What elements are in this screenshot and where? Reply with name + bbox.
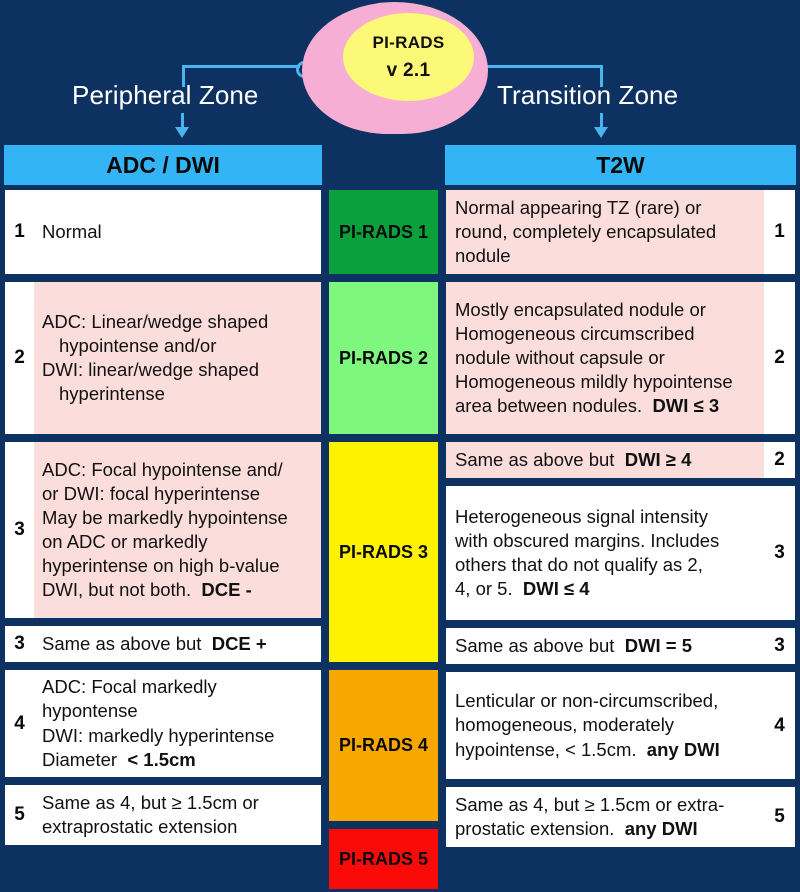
cell-line-text: DWI: markedly hyperintense — [42, 725, 274, 746]
cell-line: prostatic extension. any DWI — [455, 817, 758, 841]
cell-line: homogeneous, moderately — [455, 713, 758, 737]
pirads-score-cell[interactable]: PI-RADS 3 — [326, 439, 441, 665]
cell-line-text: DWI: linear/wedge shaped — [42, 359, 259, 380]
tz-row-text: Normal appearing TZ (rare) orround, comp… — [446, 190, 764, 274]
cell-line-text: nodule — [455, 245, 511, 266]
cell-line: 4, or 5. DWI ≤ 4 — [455, 577, 758, 601]
tz-row-score: 3 — [764, 486, 795, 620]
cell-line: Normal — [42, 220, 314, 244]
pz-row-text: ADC: Linear/wedge shapedhypointense and/… — [34, 282, 321, 434]
cell-line-emphasis: DWI = 5 — [625, 635, 692, 656]
cell-line-emphasis: DWI ≥ 4 — [625, 449, 692, 470]
cell-line-text: on ADC or markedly — [42, 531, 208, 552]
cell-line: Lenticular or non-circumscribed, — [455, 689, 758, 713]
pirads-score-cell[interactable]: PI-RADS 4 — [326, 667, 441, 824]
cell-line-text: extraprostatic extension — [42, 816, 237, 837]
cell-line: round, completely encapsulated — [455, 220, 758, 244]
left-connector-horizontal — [182, 65, 300, 68]
pz-row-text: Normal — [34, 190, 321, 274]
cell-line: Normal appearing TZ (rare) or — [455, 196, 758, 220]
pz-row-text: Same as 4, but ≥ 1.5cm orextraprostatic … — [34, 785, 321, 845]
tz-row-text: Mostly encapsulated nodule orHomogeneous… — [446, 282, 764, 434]
cell-line-text: with obscured margins. Includes — [455, 530, 719, 551]
pirads-score-column: PI-RADS 1PI-RADS 2PI-RADS 3PI-RADS 4PI-R… — [326, 187, 441, 852]
cell-line: others that do not qualify as 2, — [455, 553, 758, 577]
pirads-score-label: PI-RADS 1 — [339, 222, 428, 243]
cell-line-text: 4, or 5. — [455, 578, 513, 599]
cell-line: ADC: Linear/wedge shaped — [42, 310, 314, 334]
cell-line-text: hyperintense on high b-value — [42, 555, 280, 576]
cell-line-text: Normal — [42, 221, 102, 242]
cell-line-text: hyperintense — [59, 383, 165, 404]
left-arrow-head — [175, 127, 189, 138]
tz-row-score: 5 — [764, 787, 795, 847]
cell-line: nodule — [455, 244, 758, 268]
pirads-logo-inner: PI-RADS v 2.1 — [343, 13, 474, 101]
cell-line-text: Same as above but — [42, 633, 201, 654]
cell-line-emphasis: DWI ≤ 4 — [523, 578, 590, 599]
tz-row-score: 3 — [764, 628, 795, 664]
tz-row-text: Same as above but DWI ≥ 4 — [446, 442, 764, 478]
column-header-adc-dwi: ADC / DWI — [2, 143, 324, 187]
cell-line-emphasis: < 1.5cm — [127, 749, 195, 770]
cell-line-text: prostatic extension. — [455, 818, 614, 839]
cell-line: hypointense and/or — [42, 334, 314, 358]
cell-line: ADC: Focal markedly — [42, 675, 314, 699]
cell-line: Same as 4, but ≥ 1.5cm or — [42, 791, 314, 815]
cell-line: ADC: Focal hypointense and/ — [42, 458, 314, 482]
cell-line-emphasis: DCE + — [212, 633, 267, 654]
pirads-score-label: PI-RADS 4 — [339, 735, 428, 756]
pz-row[interactable]: 4ADC: Focal markedlyhypontenseDWI: marke… — [2, 667, 324, 780]
tz-row[interactable]: Same as 4, but ≥ 1.5cm or extra-prostati… — [443, 784, 798, 850]
cell-line: DWI, but not both. DCE - — [42, 578, 314, 602]
pirads-table: ADC / DWI T2W 1Normal2ADC: Linear/wedge … — [0, 143, 800, 852]
cell-line-text: hypontense — [42, 700, 138, 721]
tz-row-text: Same as 4, but ≥ 1.5cm or extra-prostati… — [446, 787, 764, 847]
cell-line: May be markedly hypointense — [42, 506, 314, 530]
pirads-score-cell[interactable]: PI-RADS 1 — [326, 187, 441, 277]
cell-line-text: Heterogeneous signal intensity — [455, 506, 708, 527]
cell-line: Homogeneous mildly hypointense — [455, 370, 758, 394]
cell-line: Same as above but DWI ≥ 4 — [455, 448, 758, 472]
pirads-logo-oval: PI-RADS v 2.1 — [302, 2, 488, 134]
cell-line-text: Mostly encapsulated nodule or — [455, 299, 706, 320]
pirads-chart: Peripheral Zone Transition Zone PI-RADS … — [0, 0, 800, 852]
tz-row[interactable]: Lenticular or non-circumscribed,homogene… — [443, 669, 798, 782]
cell-line: or DWI: focal hyperintense — [42, 482, 314, 506]
pz-row-text: Same as above but DCE + — [34, 626, 321, 662]
cell-line-text: round, completely encapsulated — [455, 221, 716, 242]
cell-line-text: Diameter — [42, 749, 117, 770]
transition-zone-label: Transition Zone — [497, 80, 678, 111]
cell-line-text: ADC: Focal markedly — [42, 676, 217, 697]
pz-row-score: 2 — [5, 282, 34, 434]
cell-line-text: or DWI: focal hyperintense — [42, 483, 260, 504]
cell-line: Same as above but DWI = 5 — [455, 634, 758, 658]
pz-row[interactable]: 3ADC: Focal hypointense and/or DWI: foca… — [2, 439, 324, 621]
cell-line-text: Homogeneous circumscribed — [455, 323, 695, 344]
cell-line-text: May be markedly hypointense — [42, 507, 288, 528]
pirads-score-label: PI-RADS 3 — [339, 542, 428, 563]
cell-line: hypontense — [42, 699, 314, 723]
cell-line-text: Same as above but — [455, 449, 614, 470]
pirads-score-cell[interactable]: PI-RADS 5 — [326, 826, 441, 892]
tz-row-score: 4 — [764, 672, 795, 779]
cell-line-emphasis: any DWI — [647, 739, 720, 760]
tz-row[interactable]: Heterogeneous signal intensitywith obscu… — [443, 483, 798, 623]
pz-row-text: ADC: Focal markedlyhypontenseDWI: marked… — [34, 670, 321, 777]
tz-row-score: 1 — [764, 190, 795, 274]
cell-line: Mostly encapsulated nodule or — [455, 298, 758, 322]
pz-row-score: 5 — [5, 785, 34, 845]
pz-row-score: 3 — [5, 442, 34, 618]
cell-line-text: homogeneous, moderately — [455, 714, 674, 735]
pz-row-score: 3 — [5, 626, 34, 662]
cell-line-text: DWI, but not both. — [42, 579, 191, 600]
pz-row[interactable]: 3Same as above but DCE + — [2, 623, 324, 665]
column-header-t2w: T2W — [443, 143, 798, 187]
logo-title: PI-RADS — [373, 33, 445, 53]
cell-line: area between nodules. DWI ≤ 3 — [455, 394, 758, 418]
tz-row[interactable]: Mostly encapsulated nodule orHomogeneous… — [443, 279, 798, 437]
chart-banner: Peripheral Zone Transition Zone PI-RADS … — [0, 0, 800, 143]
transition-zone-column: Normal appearing TZ (rare) orround, comp… — [443, 187, 798, 852]
pz-row[interactable]: 1Normal — [2, 187, 324, 277]
pz-row-score: 1 — [5, 190, 34, 274]
pirads-score-cell[interactable]: PI-RADS 2 — [326, 279, 441, 437]
cell-line-text: ADC: Linear/wedge shaped — [42, 311, 268, 332]
cell-line: Diameter < 1.5cm — [42, 748, 314, 772]
pz-row-score: 4 — [5, 670, 34, 777]
cell-line-text: nodule without capsule or — [455, 347, 665, 368]
cell-line-text: Normal appearing TZ (rare) or — [455, 197, 701, 218]
cell-line: DWI: markedly hyperintense — [42, 724, 314, 748]
right-arrow-head — [594, 127, 608, 138]
cell-line-text: Homogeneous mildly hypointense — [455, 371, 733, 392]
tz-row-score: 2 — [764, 282, 795, 434]
cell-line-text: Same as 4, but ≥ 1.5cm or — [42, 792, 259, 813]
tz-row[interactable]: Normal appearing TZ (rare) orround, comp… — [443, 187, 798, 277]
cell-line: with obscured margins. Includes — [455, 529, 758, 553]
cell-line-text: others that do not qualify as 2, — [455, 554, 703, 575]
pz-row[interactable]: 2ADC: Linear/wedge shapedhypointense and… — [2, 279, 324, 437]
peripheral-zone-column: 1Normal2ADC: Linear/wedge shapedhypointe… — [2, 187, 324, 852]
tz-row-score: 2 — [764, 442, 795, 478]
tz-row-text: Lenticular or non-circumscribed,homogene… — [446, 672, 764, 779]
cell-line-text: area between nodules. — [455, 395, 642, 416]
cell-line: DWI: linear/wedge shaped — [42, 358, 314, 382]
cell-line-emphasis: any DWI — [625, 818, 698, 839]
tz-row-text: Same as above but DWI = 5 — [446, 628, 764, 664]
tz-row-text: Heterogeneous signal intensitywith obscu… — [446, 486, 764, 620]
pz-row-text: ADC: Focal hypointense and/or DWI: focal… — [34, 442, 321, 618]
cell-line: extraprostatic extension — [42, 815, 314, 839]
cell-line-text: hypointense and/or — [59, 335, 216, 356]
tz-row[interactable]: Same as above but DWI ≥ 42 — [443, 439, 798, 481]
cell-line-emphasis: DWI ≤ 3 — [652, 395, 719, 416]
cell-line: Homogeneous circumscribed — [455, 322, 758, 346]
cell-line-text: ADC: Focal hypointense and/ — [42, 459, 283, 480]
cell-line-text: Lenticular or non-circumscribed, — [455, 690, 718, 711]
cell-line: Same as 4, but ≥ 1.5cm or extra- — [455, 793, 758, 817]
cell-line: on ADC or markedly — [42, 530, 314, 554]
cell-line: nodule without capsule or — [455, 346, 758, 370]
cell-line: hypointense, < 1.5cm. any DWI — [455, 738, 758, 762]
cell-line-text: Same as above but — [455, 635, 614, 656]
cell-line-text: hypointense, < 1.5cm. — [455, 739, 637, 760]
tz-row[interactable]: Same as above but DWI = 53 — [443, 625, 798, 667]
cell-line: Same as above but DCE + — [42, 632, 314, 656]
cell-line-text: Same as 4, but ≥ 1.5cm or extra- — [455, 794, 724, 815]
cell-line: hyperintense — [42, 382, 314, 406]
logo-version: v 2.1 — [387, 60, 431, 82]
cell-line-emphasis: DCE - — [201, 579, 251, 600]
peripheral-zone-label: Peripheral Zone — [72, 80, 259, 111]
cell-line: hyperintense on high b-value — [42, 554, 314, 578]
pz-row[interactable]: 5Same as 4, but ≥ 1.5cm orextraprostatic… — [2, 782, 324, 848]
pirads-score-label: PI-RADS 2 — [339, 348, 428, 369]
cell-line: Heterogeneous signal intensity — [455, 505, 758, 529]
